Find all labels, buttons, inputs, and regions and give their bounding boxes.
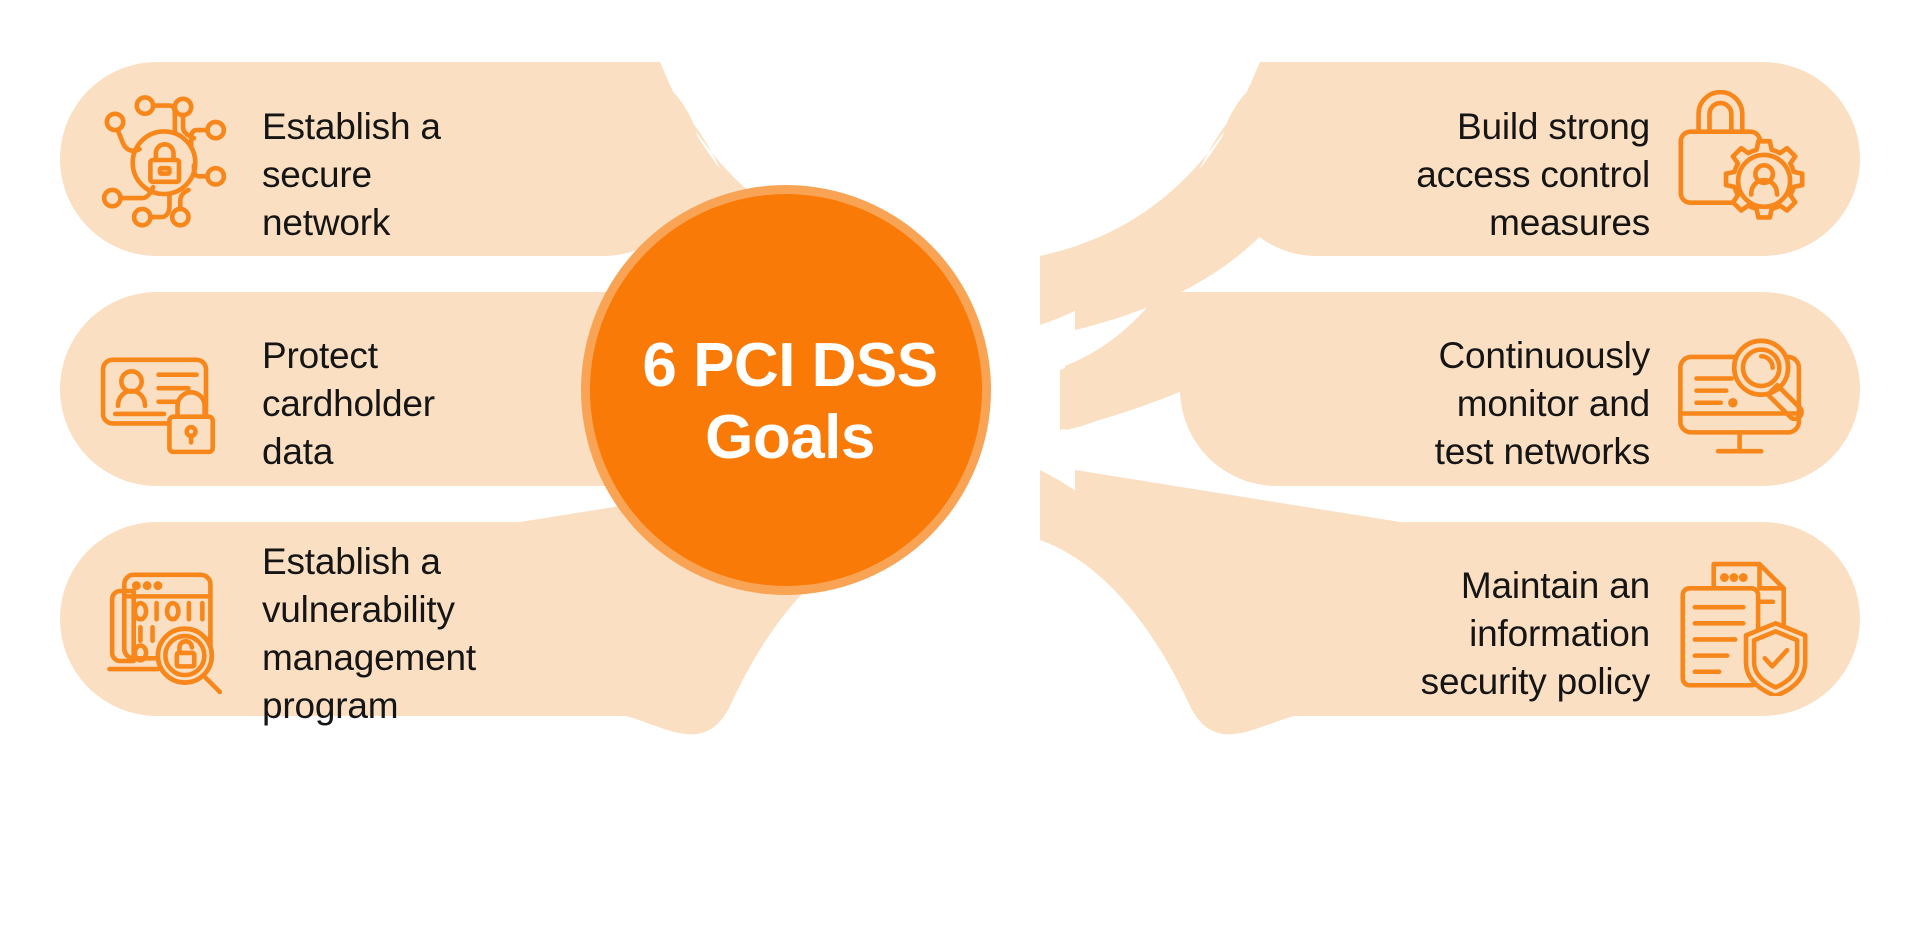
monitor-magnifier-icon [1672,330,1818,462]
pci-dss-goals-infographic: Establish a secure network Protect cardh… [0,0,1920,950]
pill-left-middle-label: Protect cardholder data [262,332,582,476]
network-lock-icon [96,92,232,228]
pill-left-bottom-label: Establish a vulnerability management pro… [262,538,602,730]
pill-right-top-label: Build strong access control measures [1050,103,1650,247]
id-card-lock-icon [96,330,232,460]
pill-right-bottom-label: Maintain an information security policy [1050,562,1650,706]
lock-gear-user-icon [1674,90,1816,228]
pill-left-top-label: Establish a secure network [262,103,562,247]
center-title: 6 PCI DSS Goals [585,330,995,474]
document-shield-check-icon [1676,556,1816,696]
pill-right-middle-label: Continuously monitor and test networks [1050,332,1650,476]
code-scan-unlock-icon [96,556,236,696]
